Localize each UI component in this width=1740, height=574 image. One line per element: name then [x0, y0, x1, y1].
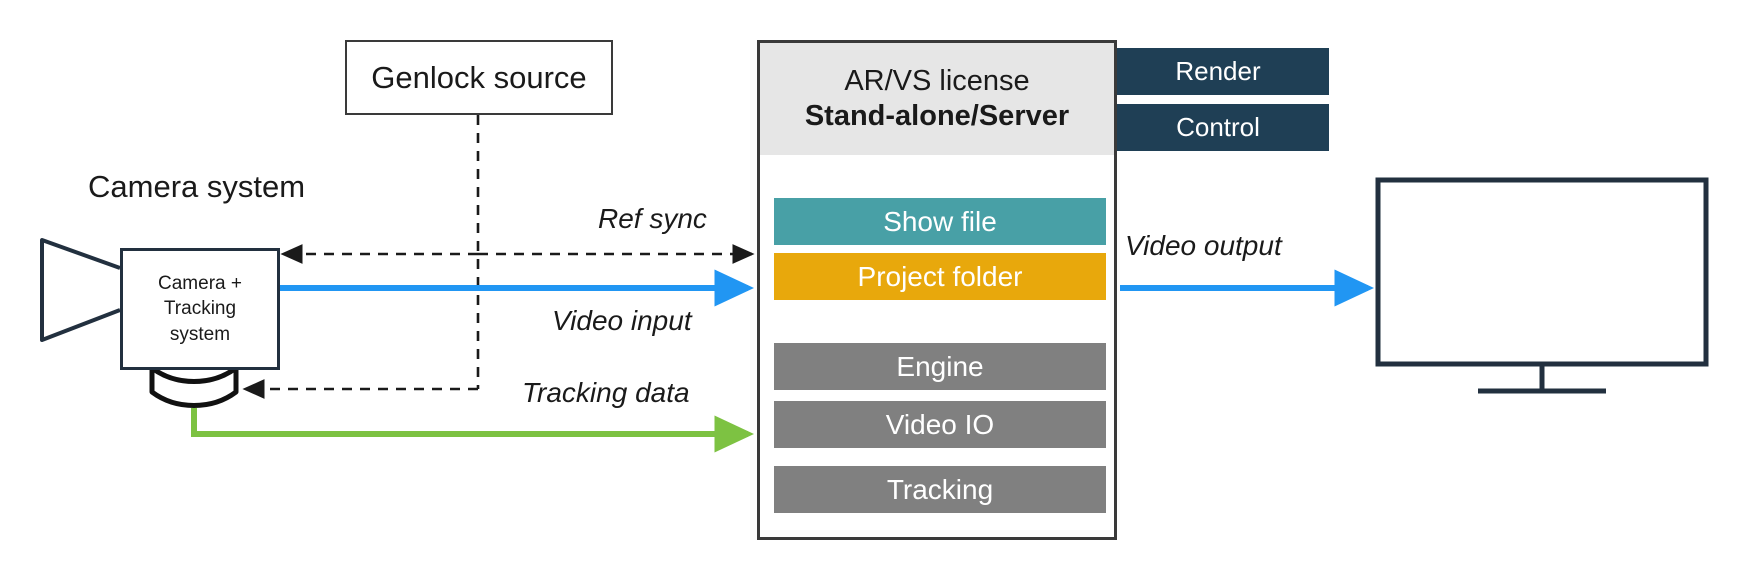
camera-label-line-2: Tracking [164, 298, 236, 319]
tracking-data-line [194, 408, 748, 434]
module-render[interactable]: Render [1107, 48, 1329, 95]
module-control[interactable]: Control [1107, 104, 1329, 151]
connection-label-video-output: Video output [1125, 230, 1282, 262]
license-edition-label: Stand-alone/Server [805, 100, 1069, 133]
module-show-file[interactable]: Show file [774, 198, 1106, 245]
genlock-source-box[interactable]: Genlock source [345, 40, 613, 115]
tracking-sensor-icon [152, 368, 236, 406]
diagram-canvas: Camera system Camera + Tracking system G… [0, 0, 1740, 574]
module-render-label: Render [1175, 56, 1260, 87]
module-control-label: Control [1176, 112, 1260, 143]
module-project-folder-label: Project folder [858, 261, 1023, 293]
connection-label-ref-sync: Ref sync [598, 203, 707, 235]
camera-tracking-system-box[interactable]: Camera + Tracking system [120, 248, 280, 370]
module-video-io[interactable]: Video IO [774, 401, 1106, 448]
connection-label-video-input: Video input [552, 305, 692, 337]
arvs-server-box: AR/VS license Stand-alone/Server Show fi… [757, 40, 1117, 540]
camera-system-title: Camera system [88, 170, 305, 204]
server-license-header: AR/VS license Stand-alone/Server [760, 43, 1114, 155]
connection-label-tracking-data: Tracking data [522, 377, 690, 409]
video-output-monitor [1378, 180, 1706, 391]
module-engine-label: Engine [896, 351, 983, 383]
camera-label-line-1: Camera + [158, 273, 242, 294]
license-type-label: AR/VS license [844, 65, 1029, 98]
genlock-source-label: Genlock source [371, 60, 586, 96]
module-tracking[interactable]: Tracking [774, 466, 1106, 513]
module-engine[interactable]: Engine [774, 343, 1106, 390]
camera-label-line-3: system [170, 324, 230, 345]
module-tracking-label: Tracking [887, 474, 993, 506]
camera-tracking-system-label: Camera + Tracking system [152, 271, 248, 348]
module-video-io-label: Video IO [886, 409, 994, 441]
module-project-folder[interactable]: Project folder [774, 253, 1106, 300]
camera-icon [42, 240, 120, 340]
module-show-file-label: Show file [883, 206, 997, 238]
